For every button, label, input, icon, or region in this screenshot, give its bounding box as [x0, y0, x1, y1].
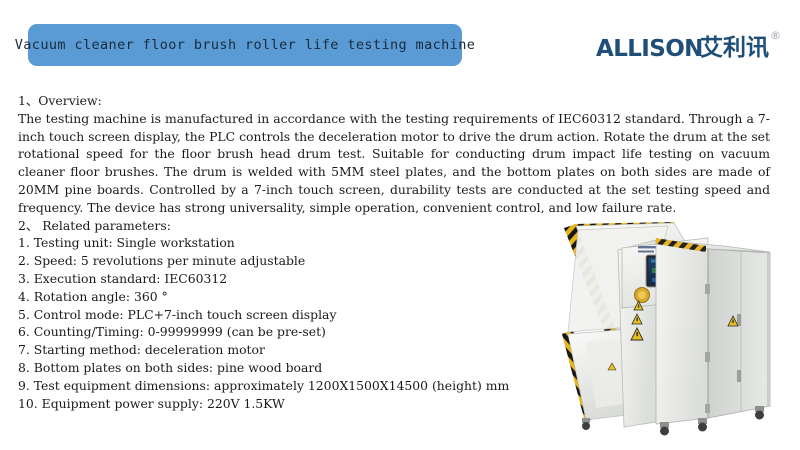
door-hinge [705, 284, 710, 294]
door-latch[interactable] [737, 314, 741, 326]
caster-wheel [660, 422, 669, 436]
door-hinge [705, 352, 710, 362]
caster-wheel [698, 418, 707, 432]
registered-trademark-icon: ® [770, 30, 781, 41]
cabinet-body-side [708, 249, 770, 418]
caster-wheel [755, 406, 764, 420]
cabinet-body-front [656, 240, 708, 424]
caster-wheel [582, 418, 590, 430]
page-header: Vacuum cleaner floor brush roller life t… [0, 0, 800, 88]
overview-heading: 1、Overview: [18, 92, 782, 110]
overview-paragraph: The testing machine is manufactured in a… [18, 110, 770, 217]
title-banner: Vacuum cleaner floor brush roller life t… [28, 24, 462, 66]
brand-logo: ALLISON 艾利讯 ® [596, 30, 786, 70]
machine-product-photo [556, 222, 800, 438]
machine-illustration [556, 222, 800, 438]
door-hinge [705, 404, 710, 413]
logo-wordmark-text: ALLISON [596, 38, 703, 61]
logo-chinese-text: 艾利讯 [700, 37, 769, 60]
door-latch[interactable] [737, 370, 741, 382]
page-title: Vacuum cleaner floor brush roller life t… [15, 37, 476, 53]
